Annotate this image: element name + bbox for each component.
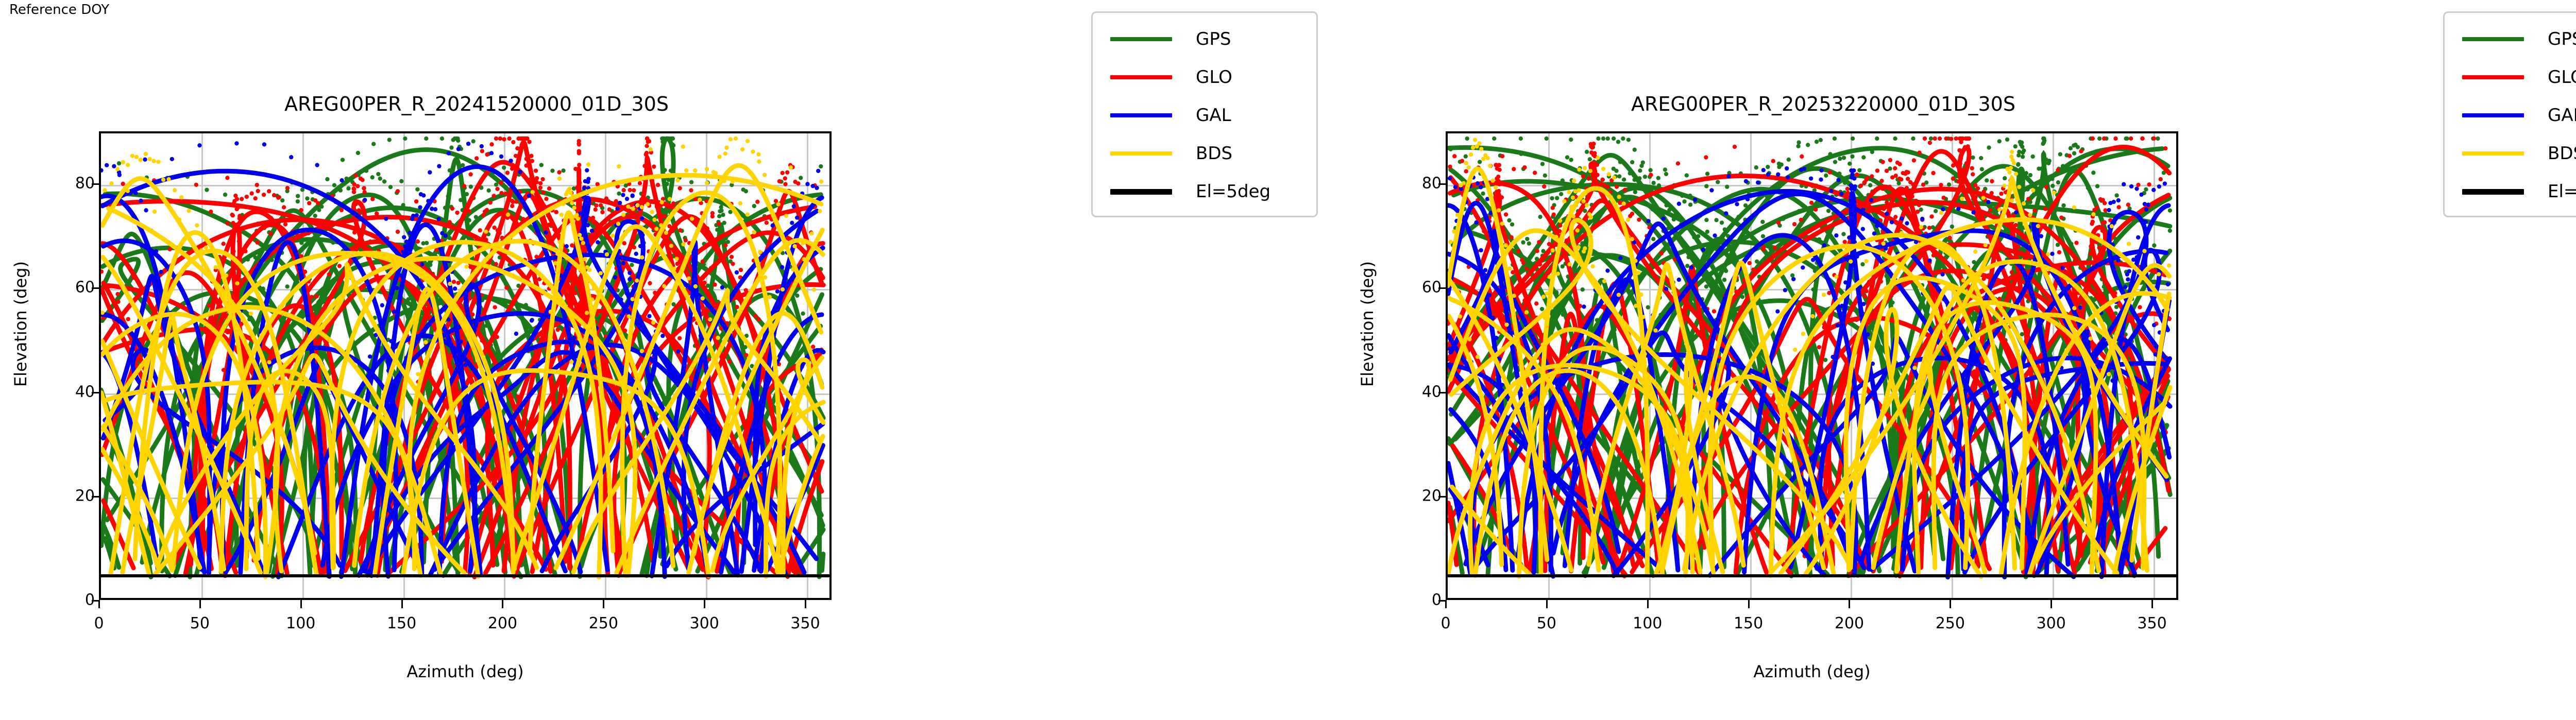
satellite-sample-dot-bds <box>1639 293 1643 297</box>
satellite-sample-dot-gal <box>389 339 393 343</box>
satellite-sample-dot-gps <box>1521 240 1525 244</box>
satellite-sample-dot-glo <box>538 185 543 190</box>
satellite-sample-dot-bds <box>1541 295 1546 299</box>
satellite-sample-dot-gal <box>1850 196 1854 200</box>
legend-swatch-icon <box>2462 37 2524 41</box>
satellite-sample-dot-gal <box>2122 182 2126 186</box>
satellite-sample-dot-bds <box>569 359 573 364</box>
satellite-sample-dot-glo <box>167 247 172 251</box>
satellite-sample-dot-bds <box>1558 218 1562 222</box>
satellite-sample-dot-glo <box>2116 205 2121 209</box>
satellite-sample-dot-gps <box>1861 155 1866 159</box>
satellite-sample-dot-gps <box>1929 136 1933 141</box>
satellite-sample-dot-glo <box>268 232 273 236</box>
satellite-sample-dot-gps <box>1637 176 1641 180</box>
satellite-sample-dot-gal <box>2050 252 2054 256</box>
satellite-sample-dot-glo <box>468 172 472 176</box>
satellite-sample-dot-gps <box>455 136 460 141</box>
satellite-sample-dot-gal <box>363 198 367 202</box>
satellite-sample-dot-glo <box>455 211 459 215</box>
satellite-sample-dot-gps <box>2037 166 2041 170</box>
satellite-sample-dot-glo <box>2059 215 2063 219</box>
satellite-sample-dot-glo <box>1933 136 1937 141</box>
satellite-sample-dot-gps <box>2095 184 2099 188</box>
satellite-sample-dot-bds <box>740 147 744 151</box>
satellite-sample-dot-glo <box>538 181 543 185</box>
x-tick-label: 250 <box>589 614 618 632</box>
satellite-sample-dot-gps <box>1684 226 1688 230</box>
satellite-sample-dot-gal <box>2108 201 2112 205</box>
satellite-sample-dot-bds <box>668 197 672 201</box>
satellite-sample-dot-gal <box>2139 193 2143 197</box>
satellite-sample-dot-bds <box>2072 205 2076 209</box>
satellite-sample-dot-bds <box>1984 243 1988 247</box>
satellite-sample-dot-bds <box>2157 272 2161 276</box>
satellite-sample-dot-gps <box>440 136 444 141</box>
satellite-sample-dot-glo <box>467 209 471 213</box>
satellite-sample-dot-glo <box>2092 208 2096 212</box>
satellite-sample-dot-glo <box>396 189 400 193</box>
satellite-sample-dot-gps <box>1688 202 1692 207</box>
satellite-sample-dot-gal <box>1735 202 1739 206</box>
satellite-sample-dot-gps <box>424 136 428 141</box>
satellite-sample-dot-gps <box>819 164 823 168</box>
satellite-sample-dot-gal <box>625 197 629 201</box>
satellite-sample-dot-glo <box>739 268 743 272</box>
satellite-sample-dot-glo <box>577 142 581 146</box>
satellite-sample-dot-glo <box>1510 235 1514 239</box>
satellite-sample-dot-glo <box>337 264 342 268</box>
satellite-sample-dot-glo <box>456 281 460 285</box>
satellite-sample-dot-gal <box>2123 285 2127 289</box>
satellite-sample-dot-bds <box>235 281 239 285</box>
satellite-sample-dot-gps <box>1633 148 1637 152</box>
satellite-sample-dot-bds <box>617 164 621 168</box>
legend-item-gal[interactable]: GAL <box>1093 96 1316 134</box>
legend-swatch-icon <box>2462 113 2524 117</box>
satellite-sample-dot-gal <box>1819 168 1823 173</box>
satellite-sample-dot-glo <box>1938 136 1942 141</box>
satellite-sample-dot-gps <box>443 205 447 210</box>
satellite-sample-dot-glo <box>1986 273 1990 278</box>
satellite-sample-dot-glo <box>494 262 498 266</box>
satellite-sample-dot-gps <box>2022 148 2026 152</box>
x-tick-label: 100 <box>1633 614 1662 632</box>
satellite-sample-dot-gal <box>1869 198 1873 202</box>
satellite-sample-dot-bds <box>681 242 685 246</box>
y-axis-label-right: Elevation (deg) <box>1358 118 1377 530</box>
satellite-sample-dot-gal <box>1861 227 1865 231</box>
satellite-sample-dot-glo <box>362 190 366 194</box>
x-tick-label: 350 <box>2137 614 2166 632</box>
x-tick-mark <box>1647 600 1649 608</box>
legend-item-glo[interactable]: GLO <box>1093 58 1316 96</box>
satellite-sample-dot-glo <box>1939 183 1943 187</box>
satellite-sample-dot-glo <box>1618 201 1622 205</box>
satellite-sample-dot-bds <box>1621 201 1625 205</box>
satellite-sample-dot-gal <box>2157 184 2161 188</box>
satellite-sample-dot-bds <box>630 297 634 301</box>
satellite-sample-dot-bds <box>1577 167 1581 172</box>
satellite-sample-dot-glo <box>499 181 503 185</box>
satellite-sample-dot-glo <box>1464 169 1468 173</box>
satellite-sample-dot-glo <box>727 359 732 364</box>
satellite-sample-dot-glo <box>1921 182 1925 186</box>
satellite-sample-dot-bds <box>484 230 488 234</box>
satellite-sample-dot-gps <box>399 179 403 183</box>
legend-item-gps[interactable]: GPS <box>2445 20 2576 58</box>
y-tick-mark <box>1438 183 1446 185</box>
satellite-sample-dot-glo <box>1931 171 1935 175</box>
satellite-sample-dot-gal <box>792 204 796 208</box>
satellite-arcs-right <box>1448 133 2176 598</box>
satellite-sample-dot-gps <box>403 136 407 141</box>
satellite-sample-dot-bds <box>531 190 535 194</box>
satellite-sample-dot-glo <box>231 221 235 225</box>
elevation-mask-line-5deg <box>1448 574 2176 577</box>
plot-axes-left <box>99 131 832 600</box>
satellite-sample-dot-glo <box>2152 136 2156 141</box>
satellite-sample-dot-gal <box>1491 316 1495 320</box>
satellite-sample-dot-glo <box>621 188 625 192</box>
satellite-sample-dot-bds <box>654 227 658 231</box>
y-tick-mark <box>1438 287 1446 289</box>
satellite-sample-dot-gps <box>325 177 329 181</box>
satellite-sample-dot-glo <box>231 249 235 253</box>
satellite-sample-dot-glo <box>684 238 688 242</box>
satellite-sample-dot-gps <box>1743 203 1748 208</box>
satellite-sample-dot-gps <box>378 177 382 181</box>
satellite-sample-dot-bds <box>587 268 591 272</box>
satellite-sample-dot-bds <box>109 181 113 185</box>
x-tick-mark <box>502 600 503 608</box>
satellite-sample-dot-gal <box>1855 254 1859 259</box>
satellite-sample-dot-glo <box>507 136 511 141</box>
satellite-sample-dot-glo <box>578 181 582 185</box>
satellite-sample-dot-gps <box>1842 156 1846 160</box>
satellite-sample-dot-bds <box>1596 156 1600 160</box>
satellite-sample-dot-bds <box>718 155 722 159</box>
satellite-sample-dot-bds <box>1490 179 1495 183</box>
satellite-sample-dot-bds <box>1548 275 1552 279</box>
satellite-sample-dot-bds <box>819 179 823 183</box>
satellite-sample-dot-bds <box>130 153 134 158</box>
satellite-sample-dot-bds <box>652 218 656 222</box>
satellite-sample-dot-glo <box>575 185 579 190</box>
satellite-sample-dot-gal <box>447 151 451 155</box>
satellite-sample-dot-gal <box>404 239 409 244</box>
satellite-sample-dot-gal <box>1914 240 1918 244</box>
satellite-sample-dot-gal <box>634 252 638 256</box>
satellite-sample-dot-bds <box>705 181 709 185</box>
satellite-sample-dot-bds <box>578 233 582 237</box>
satellite-sample-dot-gps <box>1850 155 1854 159</box>
satellite-sample-dot-glo <box>245 195 249 199</box>
satellite-sample-dot-bds <box>818 209 822 213</box>
legend-item-label: GPS <box>2548 29 2576 49</box>
satellite-sample-dot-bds <box>1504 322 1509 327</box>
satellite-sample-dot-glo <box>689 188 693 192</box>
satellite-sample-dot-glo <box>1893 215 1897 219</box>
satellite-sample-dot-gal <box>395 286 399 290</box>
legend-swatch-icon <box>1110 151 1172 156</box>
satellite-sample-dot-gps <box>1527 242 1531 246</box>
satellite-sample-dot-glo <box>783 182 787 186</box>
satellite-sample-dot-gal <box>514 332 518 336</box>
satellite-sample-dot-bds <box>2005 167 2009 171</box>
satellite-sample-dot-gps <box>1612 136 1616 141</box>
x-tick-label: 350 <box>790 614 820 632</box>
satellite-sample-dot-glo <box>2100 221 2105 225</box>
satellite-sample-dot-gal <box>1677 278 1681 282</box>
satellite-sample-dot-gal <box>618 201 622 205</box>
satellite-sample-dot-gps <box>2026 187 2030 191</box>
satellite-sample-dot-gps <box>1550 196 1554 200</box>
satellite-sample-dot-gal <box>456 147 461 151</box>
satellite-sample-dot-gal <box>1850 233 1854 237</box>
satellite-sample-dot-glo <box>1870 174 1874 178</box>
satellite-sample-dot-gal <box>660 334 665 338</box>
plot-area-right <box>1448 133 2176 598</box>
satellite-sample-dot-glo <box>1890 175 1894 179</box>
satellite-sample-dot-gal <box>638 244 642 248</box>
satellite-sample-dot-gal <box>2146 202 2150 207</box>
satellite-sample-dot-glo <box>1659 251 1664 255</box>
satellite-sample-dot-bds <box>1485 156 1489 160</box>
satellite-sample-dot-glo <box>573 167 578 171</box>
satellite-sample-dot-glo <box>2074 241 2078 245</box>
satellite-sample-dot-gps <box>1618 160 1622 164</box>
satellite-sample-dot-bds <box>2036 224 2040 228</box>
satellite-sample-dot-gal <box>780 265 784 269</box>
satellite-sample-dot-gal <box>2060 266 2064 270</box>
satellite-sample-dot-gps <box>280 198 284 202</box>
satellite-sample-dot-gal <box>1756 180 1760 184</box>
satellite-sample-dot-glo <box>1967 136 1971 141</box>
satellite-sample-dot-gal <box>518 170 522 174</box>
satellite-sample-dot-bds <box>752 230 756 234</box>
y-tick-labels-right: 020406080 <box>1398 131 1442 600</box>
satellite-sample-dot-glo <box>1589 142 1593 146</box>
satellite-sample-dot-gal <box>583 209 587 213</box>
legend-item-el-5deg[interactable]: El=5deg <box>1093 173 1316 211</box>
legend-item-gal[interactable]: GAL <box>2445 96 2576 134</box>
satellite-sample-dot-glo <box>570 275 574 279</box>
satellite-sample-dot-glo <box>602 358 606 363</box>
satellite-sample-dot-gal <box>440 231 444 235</box>
satellite-sample-dot-gps <box>1686 255 1690 259</box>
satellite-sample-dot-gps <box>2152 244 2156 248</box>
satellite-sample-dot-glo <box>1915 231 1919 235</box>
satellite-sample-dot-gal <box>1801 265 1805 269</box>
satellite-sample-dot-bds <box>2017 185 2021 189</box>
legend-item-label: GLO <box>2548 67 2576 88</box>
satellite-sample-dot-gps <box>1682 199 1686 203</box>
satellite-sample-dot-glo <box>2088 252 2092 256</box>
satellite-sample-dot-bds <box>161 178 165 182</box>
satellite-sample-dot-bds <box>1462 181 1466 185</box>
satellite-sample-dot-bds <box>1617 293 1621 297</box>
satellite-sample-dot-gal <box>1713 233 1717 237</box>
satellite-sample-dot-bds <box>640 255 644 260</box>
x-tick-labels-right: 050100150200250300350 <box>1446 600 2178 631</box>
satellite-sample-dot-gps <box>356 151 360 155</box>
satellite-sample-dot-gal <box>2143 202 2147 206</box>
satellite-sample-dot-gps <box>1658 313 1663 317</box>
satellite-sample-dot-gps <box>1555 196 1559 200</box>
satellite-sample-dot-bds <box>144 152 148 156</box>
satellite-sample-dot-gps <box>1934 209 1938 213</box>
satellite-sample-dot-glo <box>1917 150 1921 155</box>
satellite-sample-dot-glo <box>547 186 551 191</box>
satellite-sample-dot-bds <box>1810 314 1815 318</box>
satellite-sample-dot-gps <box>1565 155 1569 159</box>
satellite-sample-dot-glo <box>1581 174 1585 178</box>
satellite-sample-dot-glo <box>1600 178 1604 182</box>
satellite-sample-dot-glo <box>1970 166 1974 170</box>
satellite-sample-dot-gps <box>1826 209 1831 213</box>
satellite-sample-dot-glo <box>256 189 260 193</box>
satellite-sample-dot-glo <box>121 182 125 186</box>
plot-title-left: AREG00PER_R_20241520000_01D_30S <box>93 93 860 115</box>
satellite-sample-dot-glo <box>677 336 682 340</box>
satellite-sample-dot-bds <box>1571 214 1575 218</box>
satellite-sample-dot-bds <box>570 201 574 205</box>
satellite-sample-dot-gal <box>1900 216 1904 220</box>
satellite-sample-dot-bds <box>621 213 625 217</box>
satellite-sample-dot-glo <box>645 151 649 155</box>
y-tick-label: 40 <box>54 383 95 401</box>
y-tick-label: 0 <box>54 591 95 609</box>
satellite-sample-dot-glo <box>713 283 717 287</box>
satellite-sample-dot-glo <box>535 180 539 184</box>
satellite-sample-dot-bds <box>1617 195 1621 199</box>
satellite-sample-dot-glo <box>462 184 466 188</box>
satellite-sample-dot-gps <box>2020 141 2024 145</box>
satellite-sample-dot-gps <box>2041 142 2045 146</box>
satellite-sample-dot-gps <box>539 163 544 167</box>
satellite-sample-dot-glo <box>1880 160 1885 164</box>
satellite-sample-dot-gal <box>1927 259 1931 263</box>
legend-left: GPSGLOGALBDSEl=5deg <box>1091 11 1318 217</box>
satellite-sample-dot-bds <box>762 173 767 177</box>
satellite-sample-dot-bds <box>681 145 685 149</box>
satellite-sample-dot-gal <box>411 214 415 218</box>
satellite-sample-dot-bds <box>723 151 727 156</box>
satellite-sample-dot-glo <box>1524 266 1529 270</box>
satellite-sample-dot-glo <box>1951 177 1955 181</box>
satellite-sample-dot-gal <box>2134 255 2139 259</box>
satellite-sample-dot-gal <box>1940 272 1944 277</box>
satellite-sample-dot-gps <box>502 165 506 169</box>
satellite-sample-dot-glo <box>1595 163 1599 167</box>
satellite-sample-dot-gal <box>585 168 589 173</box>
satellite-sample-dot-gal <box>2125 272 2129 277</box>
satellite-sample-dot-bds <box>1571 196 1575 200</box>
satellite-sample-dot-glo <box>554 210 558 214</box>
legend-item-el-5deg[interactable]: El=5deg <box>2445 173 2576 211</box>
satellite-sample-dot-gal <box>428 170 432 174</box>
satellite-sample-dot-gal <box>418 205 422 209</box>
satellite-sample-dot-gal <box>2116 198 2121 202</box>
satellite-sample-dot-glo <box>492 194 496 198</box>
satellite-sample-dot-gps <box>1833 160 1837 164</box>
satellite-sample-dot-gps <box>663 168 667 172</box>
satellite-sample-dot-gps <box>1569 158 1573 162</box>
satellite-sample-dot-gal <box>437 217 441 221</box>
legend-item-bds[interactable]: BDS <box>2445 134 2576 173</box>
satellite-sample-dot-glo <box>1534 301 1538 305</box>
legend-item-gps[interactable]: GPS <box>1093 20 1316 58</box>
satellite-sample-dot-gal <box>815 186 819 190</box>
satellite-sample-dot-bds <box>734 136 738 141</box>
x-tick-mark <box>603 600 604 608</box>
satellite-sample-dot-gal <box>1500 383 1504 387</box>
satellite-sample-dot-glo <box>1676 161 1680 165</box>
satellite-sample-dot-gps <box>1448 147 1452 151</box>
legend-item-glo[interactable]: GLO <box>2445 58 2576 96</box>
satellite-sample-dot-bds <box>1882 242 1886 246</box>
satellite-sample-dot-glo <box>1512 167 1516 171</box>
satellite-sample-dot-gps <box>1720 220 1724 225</box>
satellite-sample-dot-glo <box>1880 186 1885 191</box>
satellite-sample-dot-glo <box>1959 157 1963 161</box>
satellite-sample-dot-bds <box>1919 225 1923 229</box>
satellite-arc-gps <box>822 554 823 570</box>
satellite-sample-dot-gps <box>2030 155 2035 159</box>
satellite-sample-dot-gps <box>465 192 469 196</box>
satellite-sample-dot-glo <box>1973 195 1977 199</box>
legend-item-bds[interactable]: BDS <box>1093 134 1316 173</box>
satellite-sample-dot-gps <box>671 143 675 147</box>
satellite-sample-dot-bds <box>166 177 171 181</box>
x-tick-mark <box>98 600 100 608</box>
satellite-sample-dot-gal <box>590 229 594 233</box>
satellite-sample-dot-gal <box>615 234 619 238</box>
satellite-sample-dot-bds <box>791 267 795 271</box>
satellite-sample-dot-bds <box>1583 166 1587 170</box>
satellite-sample-dot-glo <box>1799 218 1803 222</box>
satellite-sample-dot-bds <box>1864 259 1868 263</box>
satellite-sample-dot-gal <box>1836 323 1840 328</box>
satellite-sample-dot-gps <box>1714 218 1718 222</box>
satellite-sample-dot-gal <box>1494 336 1498 340</box>
satellite-sample-dot-gal <box>621 261 625 265</box>
y-tick-label: 60 <box>1400 279 1442 297</box>
satellite-sample-dot-gps <box>1596 136 1600 141</box>
satellite-sample-dot-gal <box>795 215 799 219</box>
satellite-sample-dot-glo <box>1958 162 1962 166</box>
satellite-sample-dot-glo <box>2129 136 2133 141</box>
satellite-sample-dot-glo <box>655 204 659 209</box>
satellite-sample-dot-glo <box>1522 165 1527 169</box>
satellite-sample-dot-glo <box>1500 195 1504 199</box>
satellite-sample-dot-glo <box>1912 158 1916 162</box>
satellite-sample-dot-glo <box>494 136 498 141</box>
satellite-sample-dot-bds <box>1973 250 1977 254</box>
satellite-sample-dot-glo <box>707 357 711 361</box>
satellite-sample-dot-gal <box>1956 207 1960 211</box>
satellite-sample-dot-bds <box>434 313 438 317</box>
satellite-sample-dot-bds <box>557 240 562 244</box>
satellite-sample-dot-gal <box>628 277 632 281</box>
satellite-sample-dot-glo <box>1520 258 1524 262</box>
satellite-sample-dot-bds <box>590 297 594 301</box>
satellite-sample-dot-gps <box>313 214 317 218</box>
satellite-sample-dot-glo <box>1578 304 1582 308</box>
satellite-sample-dot-gps <box>1781 217 1785 221</box>
satellite-sample-dot-bds <box>2167 264 2171 268</box>
